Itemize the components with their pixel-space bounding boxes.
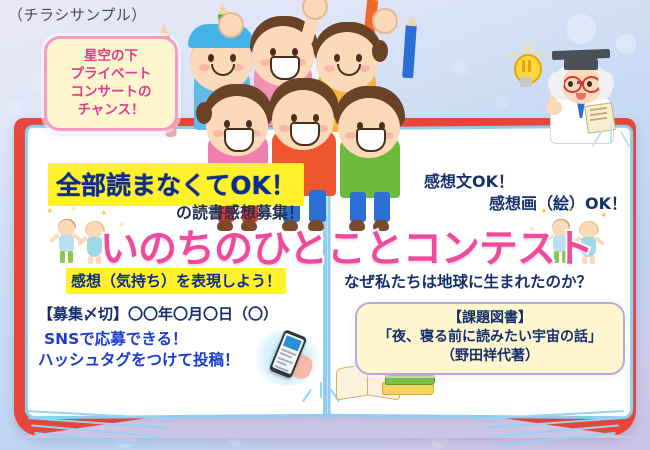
express-feeling-band: 感想（気持ち）を表現しよう！ — [66, 268, 286, 294]
sparkle-icon: ✦ — [46, 208, 54, 217]
question-text: なぜ私たちは地球に生まれたのか？ — [344, 270, 592, 292]
headline-text: 全部読まなくてOK！ — [56, 171, 296, 200]
sparkle-icon: ✧ — [70, 206, 78, 215]
badge-line-1: 星空の下 — [53, 47, 169, 65]
flyer-sample-caption: （チラシサンプル） — [8, 4, 147, 25]
contest-title: いのちのひとことコンテスト — [100, 218, 593, 274]
assigned-book-title: 「夜、寝る前に読みたい宇宙の話」 — [361, 328, 619, 347]
sparkle-icon: ✦ — [540, 208, 548, 217]
sns-line-2: ハッシュタグをつけて投稿！ — [38, 348, 240, 370]
assigned-book-author: （野田祥代著） — [361, 347, 619, 366]
sns-line-1: SNSで応募できる！ — [44, 327, 188, 349]
assigned-book-box: 【課題図書】 「夜、寝る前に読みたい宇宙の話」 （野田祥代著） — [355, 302, 625, 375]
smartphone-illustration — [252, 326, 332, 392]
assigned-book-label: 【課題図書】 — [361, 309, 619, 328]
deadline-text: 【募集〆切】〇〇年〇月〇日（〇） — [38, 303, 278, 324]
professor-illustration — [534, 38, 630, 142]
concert-chance-badge: 星空の下 プライベート コンサートの チャンス！ — [44, 36, 178, 131]
children-group-illustration — [168, 6, 436, 172]
sparkle-icon: ✦ — [600, 212, 608, 221]
badge-line-4: チャンス！ — [53, 101, 169, 119]
badge-line-2: プライベート — [53, 65, 169, 83]
badge-line-3: コンサートの — [53, 83, 169, 101]
flyer-poster: （チラシサンプル） — [0, 0, 650, 450]
essay-ok-text: 感想文OK！ — [424, 168, 514, 192]
pencil-blue-icon — [402, 24, 417, 79]
express-feeling-text: 感想（気持ち）を表現しよう！ — [71, 272, 281, 290]
mini-child-figure — [52, 218, 82, 262]
sparkle-icon: ✧ — [566, 206, 574, 215]
